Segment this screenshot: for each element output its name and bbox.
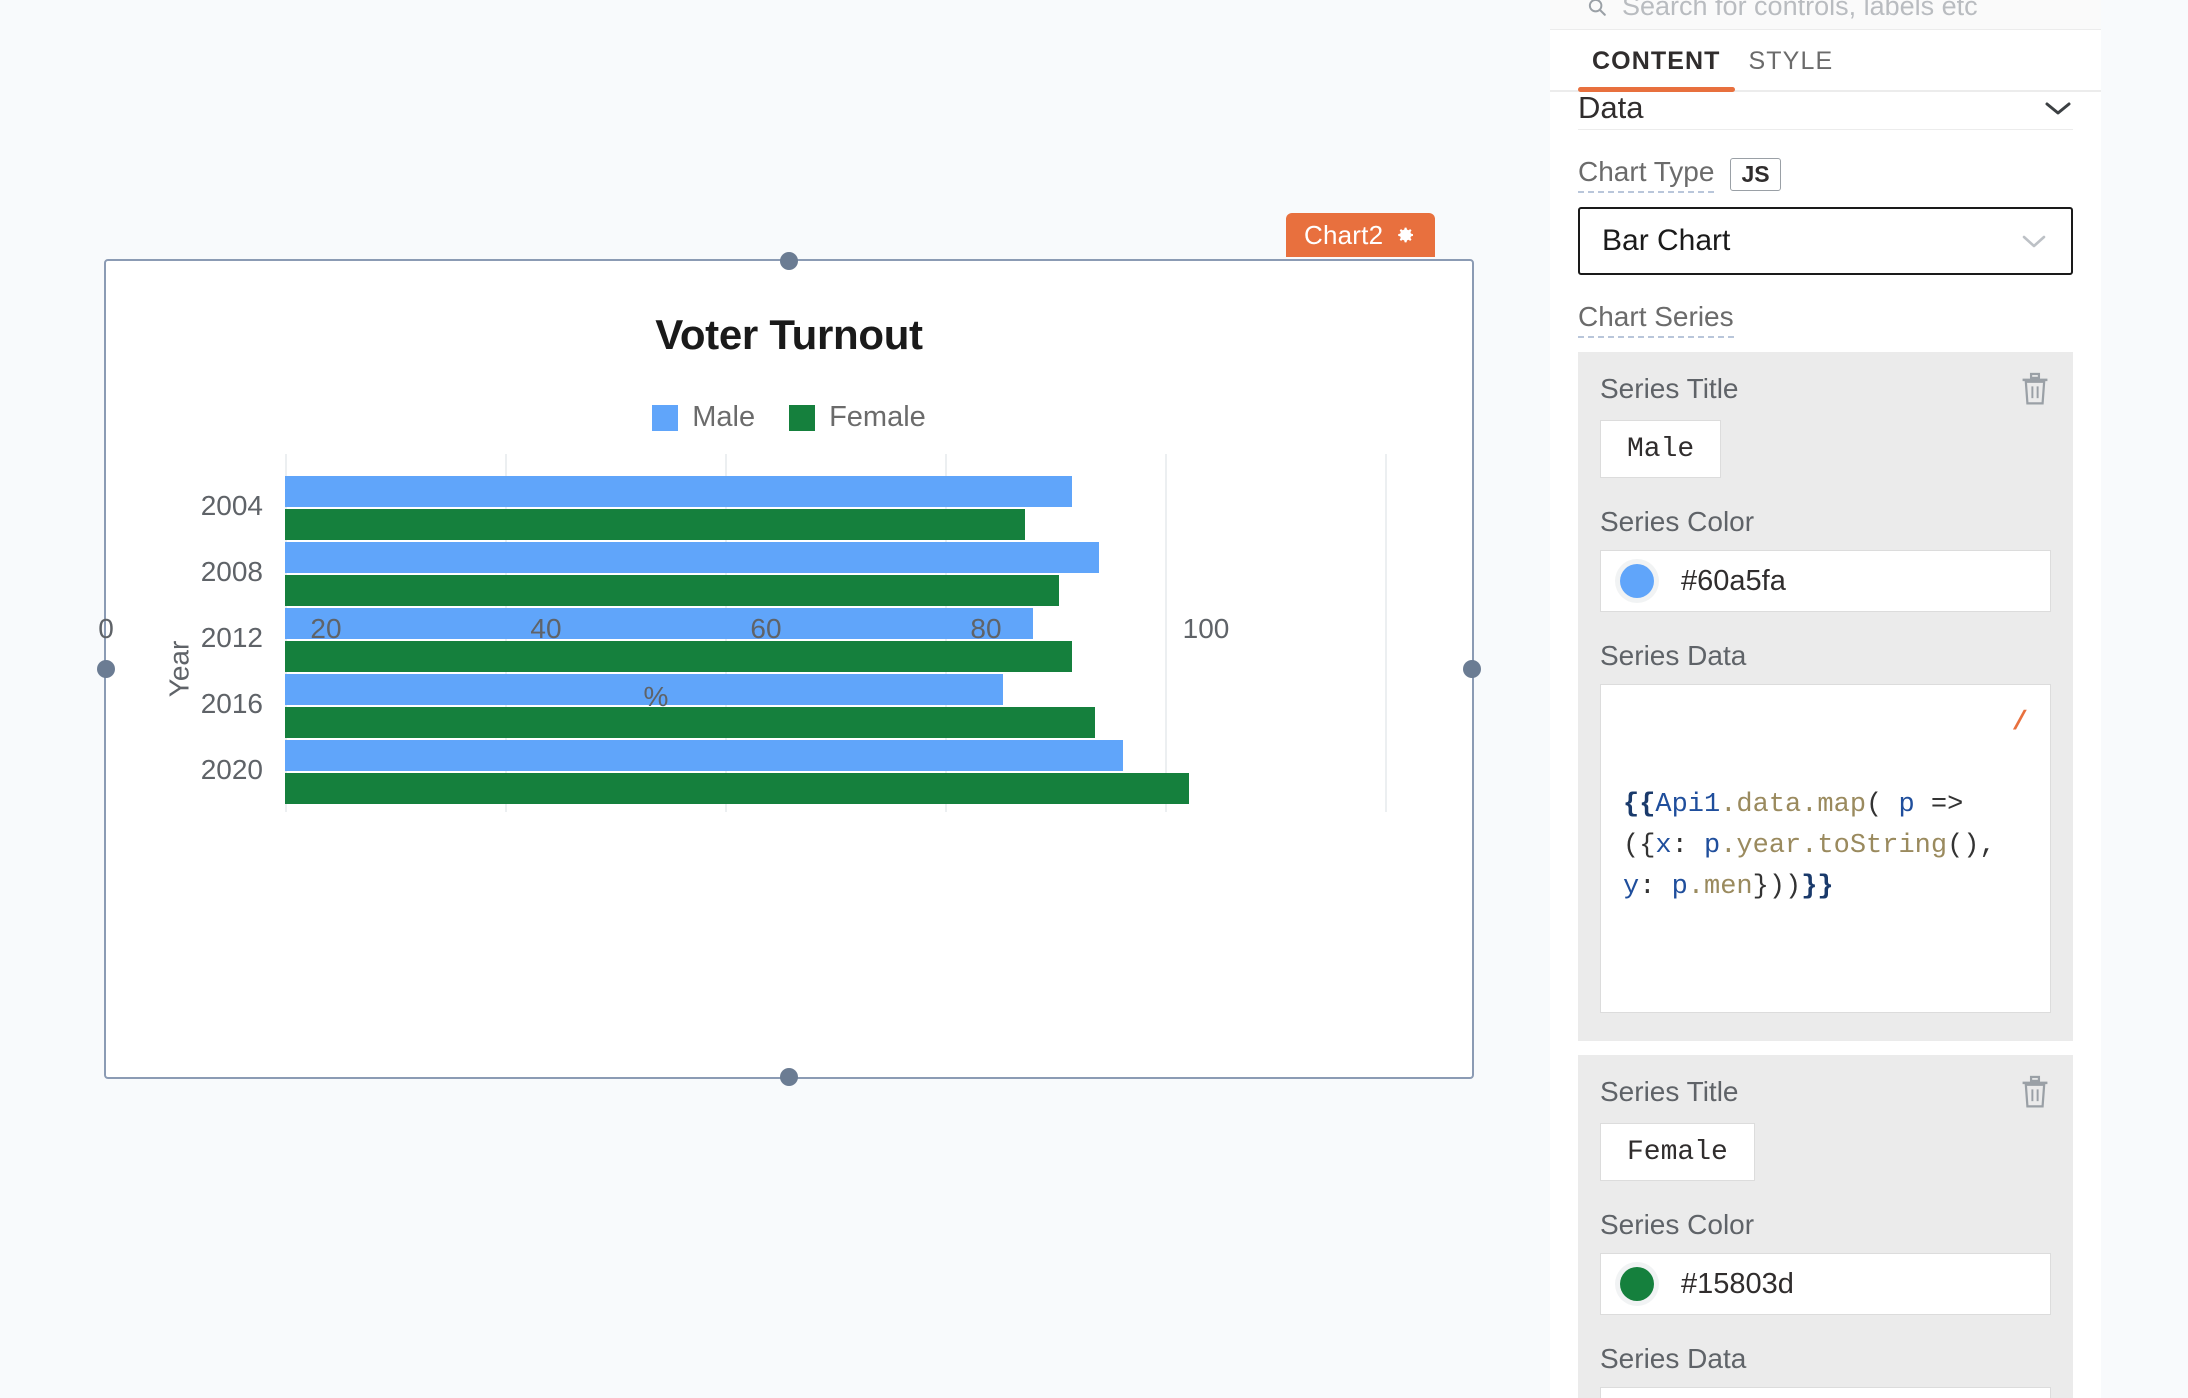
chart-series-row: Chart Series — [1578, 301, 2073, 338]
x-axis-tick: 80 — [970, 613, 1001, 645]
chart-type-value: Bar Chart — [1602, 224, 1730, 258]
bar-chart: Voter Turnout Male Female Year 200420082… — [106, 261, 1472, 1077]
series-title-input-male[interactable]: Male — [1600, 420, 1721, 478]
chevron-down-icon[interactable] — [2043, 99, 2073, 117]
app-root: Chart2 Voter Turnout Male — [0, 0, 2188, 1398]
series-card-female: Series Title Female Series Color — [1578, 1055, 2073, 1398]
bar-female[interactable] — [285, 509, 1025, 540]
bar-group: 2020 — [285, 740, 1385, 806]
x-axis-tick: 40 — [530, 613, 561, 645]
series-data-code-male: {{Api1.data.map( p => ({x: p.year.toStri… — [1623, 790, 2012, 902]
series-color-input-female[interactable]: #15803d — [1600, 1253, 2051, 1315]
line-wrap-marker: / — [2012, 703, 2028, 744]
color-swatch-female — [1620, 1267, 1654, 1301]
chevron-down-icon[interactable] — [2019, 232, 2049, 250]
tab-style[interactable]: STYLE — [1735, 47, 1848, 90]
gear-icon[interactable] — [1393, 223, 1417, 247]
legend-item-female[interactable]: Female — [789, 401, 926, 434]
legend-label-female: Female — [829, 401, 926, 434]
widget-name-badge[interactable]: Chart2 — [1286, 213, 1435, 257]
bar-female[interactable] — [285, 575, 1059, 606]
x-axis-tick: 0 — [98, 613, 114, 645]
chart-widget-frame[interactable]: Voter Turnout Male Female Year 200420082… — [104, 259, 1474, 1079]
bar-male[interactable] — [285, 740, 1123, 771]
resize-handle-bottom[interactable] — [780, 1068, 798, 1086]
series-title-label: Series Title — [1600, 373, 1739, 405]
editor-canvas[interactable]: Chart2 Voter Turnout Male — [0, 0, 1550, 1398]
chart-legend: Male Female — [106, 401, 1472, 434]
bar-group: 2008 — [285, 542, 1385, 608]
legend-swatch-male — [652, 405, 678, 431]
series-title-label: Series Title — [1600, 1076, 1739, 1108]
trash-icon[interactable] — [2019, 1075, 2051, 1109]
series-data-label: Series Data — [1600, 640, 2051, 672]
chart-type-label: Chart Type — [1578, 156, 1714, 193]
series-data-editor-male[interactable]: {{Api1.data.map( p => ({x: p.year.toStri… — [1600, 684, 2051, 1013]
chart-widget-selection[interactable]: Chart2 Voter Turnout Male — [104, 259, 1474, 1079]
property-panel: Search for controls, labels etc CONTENT … — [1550, 0, 2101, 1398]
series-color-value-male: #60a5fa — [1681, 565, 1786, 598]
legend-label-male: Male — [692, 401, 755, 434]
color-swatch-male — [1620, 564, 1654, 598]
chart-title: Voter Turnout — [106, 311, 1472, 359]
search-icon — [1586, 0, 1608, 18]
chart-type-select[interactable]: Bar Chart — [1578, 207, 2073, 275]
x-axis-title: % — [106, 681, 1206, 713]
trash-icon[interactable] — [2019, 372, 2051, 406]
legend-item-male[interactable]: Male — [652, 401, 755, 434]
section-data-title: Data — [1578, 90, 1643, 126]
panel-search-placeholder: Search for controls, labels etc — [1622, 0, 1978, 22]
bar-group: 2004 — [285, 476, 1385, 542]
resize-handle-left[interactable] — [97, 660, 115, 678]
panel-tabs: CONTENT STYLE — [1550, 30, 2101, 92]
bar-male[interactable] — [285, 542, 1099, 573]
series-card-male: Series Title Male Series Color #6 — [1578, 352, 2073, 1041]
panel-search-bar[interactable]: Search for controls, labels etc — [1550, 0, 2101, 30]
series-color-label: Series Color — [1600, 506, 2051, 538]
gridline — [1385, 454, 1387, 812]
color-swatch-ring[interactable] — [1615, 559, 1659, 603]
bar-male[interactable] — [285, 476, 1072, 507]
bar-female[interactable] — [285, 773, 1189, 804]
series-color-value-female: #15803d — [1681, 1268, 1794, 1301]
y-axis-tick: 2004 — [201, 490, 263, 522]
x-axis-ticks: 020406080100 — [106, 613, 1206, 653]
x-axis-tick: 60 — [750, 613, 781, 645]
chart-series-label: Chart Series — [1578, 301, 1734, 338]
resize-handle-right[interactable] — [1463, 660, 1481, 678]
series-data-label: Series Data — [1600, 1343, 2051, 1375]
js-badge[interactable]: JS — [1730, 158, 1780, 192]
legend-swatch-female — [789, 405, 815, 431]
chart-type-row: Chart Type JS — [1578, 156, 2073, 193]
section-data-header[interactable]: Data — [1578, 86, 2073, 130]
y-axis-tick: 2008 — [201, 556, 263, 588]
resize-handle-top[interactable] — [780, 252, 798, 270]
widget-name-label: Chart2 — [1304, 220, 1383, 251]
y-axis-tick: 2020 — [201, 754, 263, 786]
series-color-label: Series Color — [1600, 1209, 2051, 1241]
color-swatch-ring[interactable] — [1615, 1262, 1659, 1306]
series-title-input-female[interactable]: Female — [1600, 1123, 1755, 1181]
series-color-input-male[interactable]: #60a5fa — [1600, 550, 2051, 612]
x-axis-tick: 20 — [310, 613, 341, 645]
series-data-editor-female[interactable]: {{Api1.data.map( p => ({x: p.year.toStri… — [1600, 1387, 2051, 1398]
panel-content: Data Chart Type JS Bar Chart Chart Serie… — [1550, 86, 2101, 1398]
x-axis-tick: 100 — [1183, 613, 1230, 645]
tab-content[interactable]: CONTENT — [1578, 47, 1735, 90]
series-title-row: Series Title — [1600, 372, 2051, 406]
series-title-row: Series Title — [1600, 1075, 2051, 1109]
